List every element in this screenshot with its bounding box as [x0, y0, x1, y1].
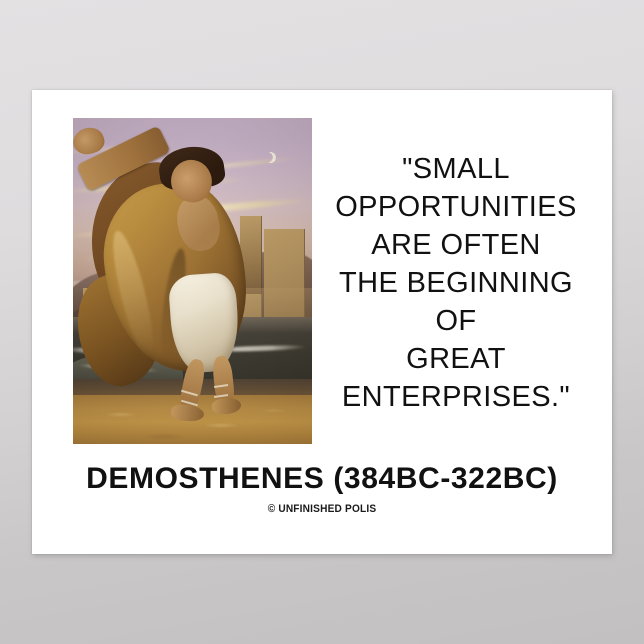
quote-line: OF [322, 302, 590, 340]
quote-line: THE BEGINNING [322, 264, 590, 302]
poster: "SMALL OPPORTUNITIES ARE OFTEN THE BEGIN… [32, 90, 612, 554]
page-backdrop: "SMALL OPPORTUNITIES ARE OFTEN THE BEGIN… [0, 0, 644, 644]
attribution-line: DEMOSTHENES (384BC-322BC) [32, 462, 612, 496]
quote-line: ENTERPRISES." [322, 378, 590, 416]
quote-line: "SMALL [322, 150, 590, 188]
quote-line: ARE OFTEN [322, 226, 590, 264]
quote-line: OPPORTUNITIES [322, 188, 590, 226]
quote-text-block: "SMALL OPPORTUNITIES ARE OFTEN THE BEGIN… [322, 150, 590, 416]
artwork-image [73, 118, 312, 444]
copyright-credit: © UNFINISHED POLIS [55, 503, 589, 515]
quote-line: GREAT [322, 340, 590, 378]
